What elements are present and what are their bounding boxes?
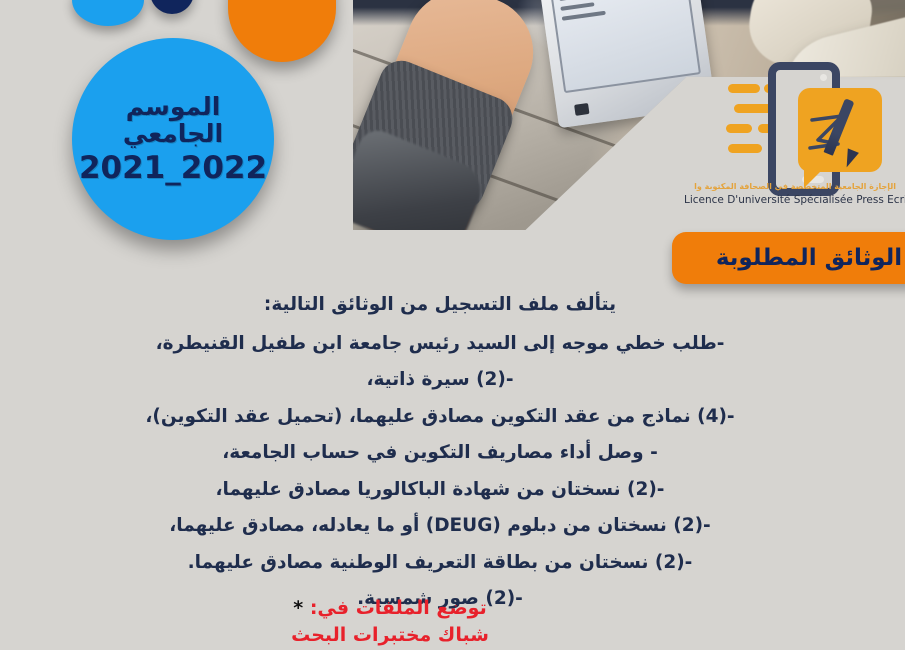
program-logo: الإجازة الجامعية المتخصصة في الصحافة الم… xyxy=(700,62,890,212)
logo-french-caption: Licence D'université Spécialisée Press E… xyxy=(684,194,904,206)
list-item: -(2) نسختان من شهادة الباكالوريا مصادق ع… xyxy=(40,481,840,500)
submission-note: توضع الملفات في: * شباك مختبرات البحث xyxy=(40,598,740,646)
dash-segment xyxy=(728,84,760,93)
season-badge-line2: 2021_2022 xyxy=(79,150,267,186)
screen-text-line xyxy=(562,11,606,21)
decor-circle-blue-small xyxy=(72,0,144,26)
documents-list: يتألف ملف التسجيل من الوثائق التالية: -ط… xyxy=(40,296,840,627)
footer-label: توضع الملفات في: xyxy=(310,597,487,619)
screen-text-line xyxy=(560,2,594,11)
decor-circle-navy-small xyxy=(150,0,194,14)
logo-arabic-caption: الإجازة الجامعية المتخصصة في الصحافة الم… xyxy=(694,182,896,191)
laptop-key xyxy=(574,103,589,116)
banner-title: الوثائق المطلوبة xyxy=(716,245,902,271)
dash-segment xyxy=(728,144,762,153)
season-badge-line1: الموسم الجامعي xyxy=(72,93,274,148)
footer-line-2: شباك مختبرات البحث xyxy=(40,625,740,646)
list-intro: يتألف ملف التسجيل من الوثائق التالية: xyxy=(40,296,840,315)
laptop-screen xyxy=(549,0,701,93)
tablet-camera-icon xyxy=(820,74,827,81)
laptop-device xyxy=(538,0,715,128)
list-item: -(2) نسختان من دبلوم (DEUG) أو ما يعادله… xyxy=(40,517,840,536)
list-item: - وصل أداء مصاريف التكوين في حساب الجامع… xyxy=(40,444,840,463)
dash-segment xyxy=(726,124,752,133)
footer-line-1: توضع الملفات في: * xyxy=(40,598,740,619)
list-item: -طلب خطي موجه إلى السيد رئيس جامعة ابن ط… xyxy=(40,335,840,354)
poster-canvas: الموسم الجامعي 2021_2022 الإجازة الجامعي… xyxy=(0,0,905,650)
speech-bubble-icon xyxy=(798,88,882,172)
list-item: -(4) نماذج من عقد التكوين مصادق عليهما، … xyxy=(40,408,840,427)
list-item: -(2) نسختان من بطاقة التعريف الوطنية مصا… xyxy=(40,554,840,573)
decor-pill-orange xyxy=(228,0,336,62)
season-badge: الموسم الجامعي 2021_2022 xyxy=(72,38,274,240)
list-item: -(2) سيرة ذاتية، xyxy=(40,371,840,390)
asterisk-icon: * xyxy=(293,597,303,619)
text-lines-icon xyxy=(710,84,768,172)
required-documents-banner: الوثائق المطلوبة xyxy=(672,232,905,284)
screen-text-line xyxy=(559,0,613,1)
